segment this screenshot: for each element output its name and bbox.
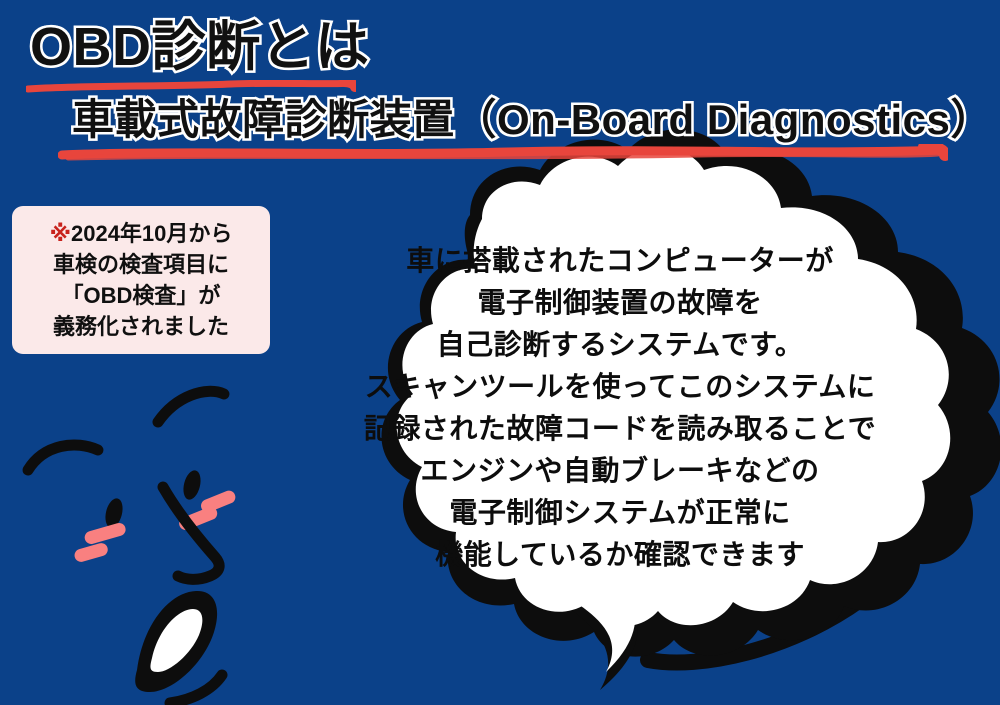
- notice-box: ※2024年10月から 車検の検査項目に 「OBD検査」が 義務化されました: [12, 206, 270, 354]
- note-line-3: 「OBD検査」が: [22, 280, 260, 311]
- note-layer: ※2024年10月から 車検の検査項目に 「OBD検査」が 義務化されました: [0, 0, 1000, 705]
- note-line-1: ※2024年10月から: [22, 218, 260, 249]
- asterisk-mark-icon: ※: [50, 221, 71, 246]
- note-line-1-text: 2024年10月から: [71, 221, 232, 246]
- note-line-2: 車検の検査項目に: [22, 249, 260, 280]
- poster-canvas: 車に搭載されたコンピューターが 電子制御装置の故障を 自己診断するシステムです。…: [0, 0, 1000, 705]
- note-line-4: 義務化されました: [22, 311, 260, 342]
